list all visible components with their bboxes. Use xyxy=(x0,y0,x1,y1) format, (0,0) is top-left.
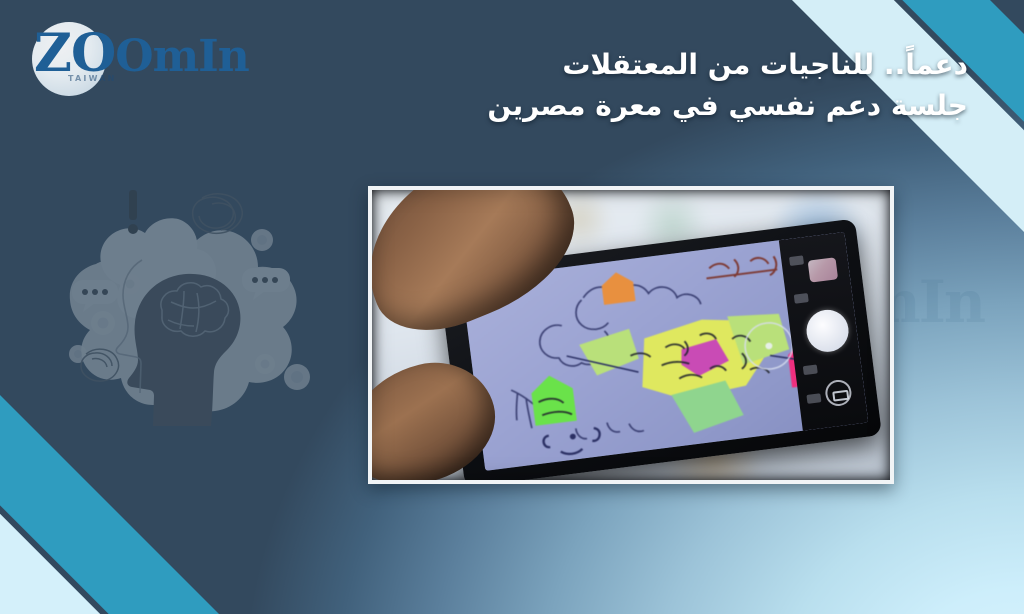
logo[interactable]: ZOOmIn TAIWAN xyxy=(20,14,220,100)
poster-smiley-face xyxy=(543,427,602,457)
camera-settings-icon[interactable] xyxy=(806,393,821,404)
headline-line-1: دعماً.. للناجيات من المعتقلات xyxy=(348,44,968,85)
logo-word-secondary: OmIn xyxy=(115,31,248,82)
poster-arabic-script xyxy=(705,254,778,283)
camera-filter-icon[interactable] xyxy=(803,364,818,375)
headline: دعماً.. للناجيات من المعتقلات جلسة دعم ن… xyxy=(348,44,968,127)
speech-bubble-right-dots xyxy=(252,277,278,283)
camera-menu-icon[interactable] xyxy=(789,255,804,266)
article-photo xyxy=(368,186,894,484)
news-card: ZOOmIn ZOOmIn TAIWAN دعماً.. للناجيات من… xyxy=(0,0,1024,614)
camera-mode-icon[interactable] xyxy=(794,293,809,304)
head-thought-cloud-illustration xyxy=(34,168,334,458)
headline-line-2: جلسة دعم نفسي في معرة مصرين xyxy=(348,85,968,126)
logo-subtitle: TAIWAN xyxy=(68,74,117,83)
flip-camera-icon[interactable] xyxy=(824,378,853,407)
logo-wordmark: ZOOmIn xyxy=(34,28,249,80)
exclamation-mark-icon xyxy=(128,190,138,234)
gallery-thumbnail[interactable] xyxy=(808,257,839,282)
photo-scene xyxy=(372,190,890,480)
speech-bubble-left-dots xyxy=(82,289,108,295)
shutter-button[interactable] xyxy=(804,307,851,354)
